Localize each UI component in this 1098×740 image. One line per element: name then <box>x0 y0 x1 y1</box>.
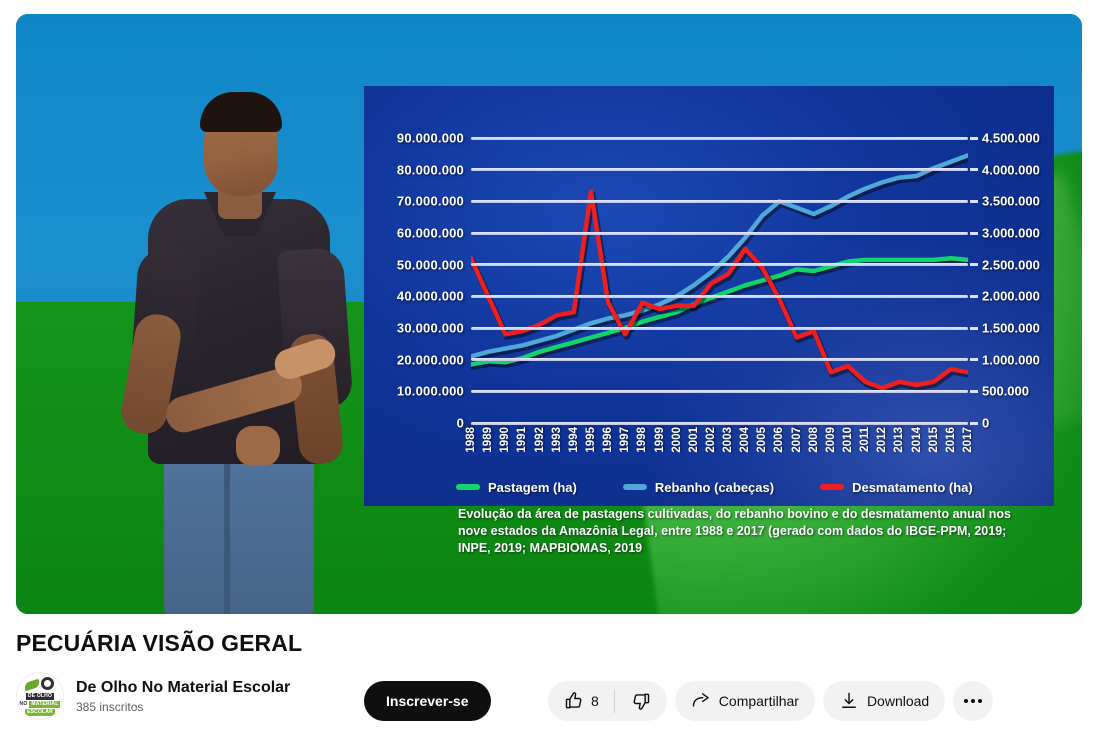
x-tick-year: 2016 <box>945 427 957 453</box>
x-tick-year: 2005 <box>756 427 768 453</box>
x-tick-year: 2015 <box>928 427 940 453</box>
x-tick-year: 1993 <box>551 427 563 453</box>
channel-name[interactable]: De Olho No Material Escolar <box>76 679 290 697</box>
thumbs-up-icon <box>564 691 584 711</box>
legend-swatch <box>456 484 480 490</box>
gridline <box>471 232 968 235</box>
thumbs-down-icon <box>631 691 651 711</box>
legend-label: Pastagem (ha) <box>488 480 577 495</box>
chart-caption: Evolução da área de pastagens cultivadas… <box>458 506 1018 557</box>
legend-label: Rebanho (cabeças) <box>655 480 774 495</box>
avatar[interactable]: DE OLHO NO MATERIAL ESCOLAR <box>16 672 64 720</box>
x-tick-year: 1991 <box>516 427 528 453</box>
dislike-button[interactable] <box>615 681 667 721</box>
channel-owner-row[interactable]: DE OLHO NO MATERIAL ESCOLAR De Olho No M… <box>16 672 290 720</box>
y-tick-dash <box>970 422 978 425</box>
x-tick-year: 2007 <box>791 427 803 453</box>
share-label: Compartilhar <box>719 693 799 709</box>
y-tick-right: 500.000 <box>982 384 1029 399</box>
y-tick-right: 4.000.000 <box>982 162 1040 177</box>
y-axis-right: 0500.0001.000.0001.500.0002.000.0002.500… <box>982 138 1082 423</box>
x-tick-year: 1995 <box>585 427 597 453</box>
x-tick-year: 2010 <box>842 427 854 453</box>
x-tick-year: 1998 <box>636 427 648 453</box>
x-tick-year: 2013 <box>893 427 905 453</box>
y-tick-left: 90.000.000 <box>397 131 464 146</box>
y-axis-left: 010.000.00020.000.00030.000.00040.000.00… <box>360 138 464 423</box>
gridline <box>471 137 968 140</box>
y-tick-dash <box>970 232 978 235</box>
gridline <box>471 168 968 171</box>
more-actions-button[interactable] <box>953 681 993 721</box>
x-tick-year: 1999 <box>654 427 666 453</box>
legend-label: Desmatamento (ha) <box>852 480 973 495</box>
x-tick-year: 2009 <box>825 427 837 453</box>
y-tick-left: 20.000.000 <box>397 352 464 367</box>
x-tick-year: 2011 <box>859 427 871 452</box>
y-tick-right: 1.500.000 <box>982 321 1040 336</box>
y-tick-dash <box>970 168 978 171</box>
x-tick-year: 2012 <box>876 427 888 453</box>
like-dislike-group: 8 <box>548 681 667 721</box>
avatar-logo-line3: ESCOLAR <box>25 709 55 716</box>
avatar-logo-line2: NO MATERIAL <box>20 701 61 708</box>
legend-swatch <box>623 484 647 490</box>
x-tick-year: 2003 <box>722 427 734 453</box>
video-player[interactable]: 010.000.00020.000.00030.000.00040.000.00… <box>16 14 1082 614</box>
legend-item: Rebanho (cabeças) <box>623 480 774 495</box>
x-tick-year: 1994 <box>568 427 580 453</box>
chart-plot-area <box>471 138 968 423</box>
share-arrow-icon <box>691 691 711 711</box>
x-tick-year: 2014 <box>911 427 923 453</box>
y-tick-dash <box>970 358 978 361</box>
more-horizontal-icon <box>964 699 968 703</box>
y-tick-left: 0 <box>457 416 464 431</box>
y-tick-left: 50.000.000 <box>397 257 464 272</box>
x-axis-years: 1988198919901991199219931994199519961997… <box>471 427 968 473</box>
y-tick-dash <box>970 263 978 266</box>
y-tick-right: 3.500.000 <box>982 194 1040 209</box>
subscribe-button[interactable]: Inscrever-se <box>364 681 491 721</box>
subscriber-count: 385 inscritos <box>76 700 290 714</box>
y-tick-right: 2.500.000 <box>982 257 1040 272</box>
legend-swatch <box>820 484 844 490</box>
y-tick-left: 60.000.000 <box>397 226 464 241</box>
y-tick-left: 80.000.000 <box>397 162 464 177</box>
gridline <box>471 390 968 393</box>
gridline <box>471 200 968 203</box>
x-tick-year: 2000 <box>671 427 683 453</box>
x-tick-year: 1988 <box>465 427 477 453</box>
x-tick-year: 2017 <box>962 427 974 453</box>
x-tick-year: 2008 <box>808 427 820 453</box>
page-title: PECUÁRIA VISÃO GERAL <box>16 630 302 657</box>
x-tick-year: 1989 <box>482 427 494 453</box>
like-button[interactable]: 8 <box>548 681 614 721</box>
share-button[interactable]: Compartilhar <box>675 681 815 721</box>
y-tick-right: 4.500.000 <box>982 131 1040 146</box>
y-tick-right: 0 <box>982 416 989 431</box>
legend-item: Pastagem (ha) <box>456 480 577 495</box>
chart-series-lines <box>471 138 968 423</box>
y-tick-dash <box>970 327 978 330</box>
gridline <box>471 327 968 330</box>
x-tick-year: 1996 <box>602 427 614 453</box>
gridline <box>471 358 968 361</box>
y-tick-left: 10.000.000 <box>397 384 464 399</box>
legend-item: Desmatamento (ha) <box>820 480 973 495</box>
chart-overlay: 010.000.00020.000.00030.000.00040.000.00… <box>346 28 1056 588</box>
download-label: Download <box>867 693 929 709</box>
avatar-logo-line1: DE OLHO <box>26 693 54 700</box>
x-tick-year: 2002 <box>705 427 717 453</box>
download-icon <box>839 691 859 711</box>
y-tick-dash <box>970 200 978 203</box>
gridline <box>471 422 968 425</box>
x-tick-year: 1990 <box>499 427 511 453</box>
magnifier-leaf-icon <box>23 677 57 692</box>
series-line-pastagem <box>471 258 968 364</box>
like-count: 8 <box>591 693 599 709</box>
x-tick-year: 2001 <box>688 427 700 453</box>
y-tick-left: 40.000.000 <box>397 289 464 304</box>
x-tick-year: 1997 <box>619 427 631 453</box>
y-tick-right: 1.000.000 <box>982 352 1040 367</box>
y-tick-right: 3.000.000 <box>982 226 1040 241</box>
y-tick-right: 2.000.000 <box>982 289 1040 304</box>
download-button[interactable]: Download <box>823 681 945 721</box>
y-tick-left: 70.000.000 <box>397 194 464 209</box>
x-tick-year: 2004 <box>739 427 751 453</box>
chart-legend: Pastagem (ha)Rebanho (cabeças)Desmatamen… <box>456 476 996 498</box>
x-tick-year: 1992 <box>534 427 546 453</box>
y-tick-dash <box>970 295 978 298</box>
y-tick-dash <box>970 137 978 140</box>
y-tick-dash <box>970 390 978 393</box>
video-action-bar: 8 Compartilhar Download <box>548 681 993 721</box>
gridline <box>471 295 968 298</box>
gridline <box>471 263 968 266</box>
x-tick-year: 2006 <box>773 427 785 453</box>
y-tick-left: 30.000.000 <box>397 321 464 336</box>
